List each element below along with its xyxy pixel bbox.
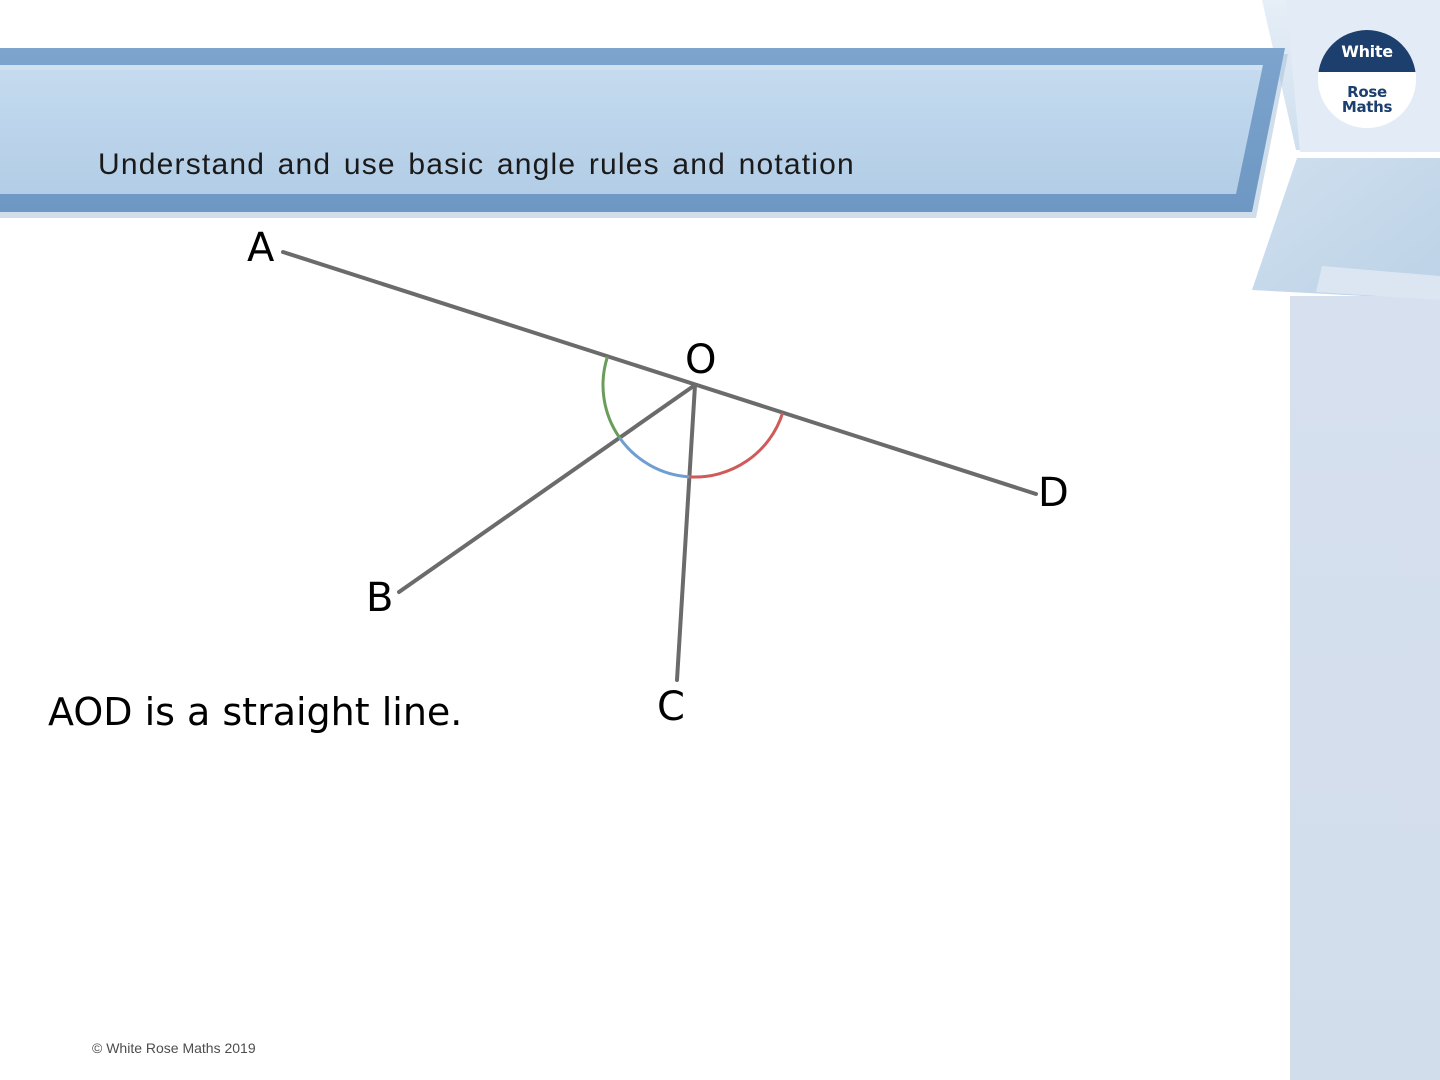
angle-diagram (0, 0, 1440, 1080)
statement-text: AOD is a straight line. (48, 690, 462, 734)
arc-angle-COD (689, 413, 782, 477)
line-segment-AD (283, 252, 1036, 494)
line-segment-OC (677, 385, 695, 680)
point-label-b: B (366, 578, 393, 618)
point-label-d: D (1038, 473, 1069, 513)
arc-angle-BOC (620, 438, 690, 477)
line-segment-OB (399, 385, 695, 592)
point-label-a: A (247, 228, 274, 268)
arc-angle-AOB (603, 357, 620, 438)
point-label-o: O (685, 340, 716, 380)
slide-canvas: Understand and use basic angle rules and… (0, 0, 1440, 1080)
copyright-footer: © White Rose Maths 2019 (92, 1040, 256, 1056)
diagram-line-group (283, 252, 1036, 680)
point-label-c: C (657, 687, 685, 727)
